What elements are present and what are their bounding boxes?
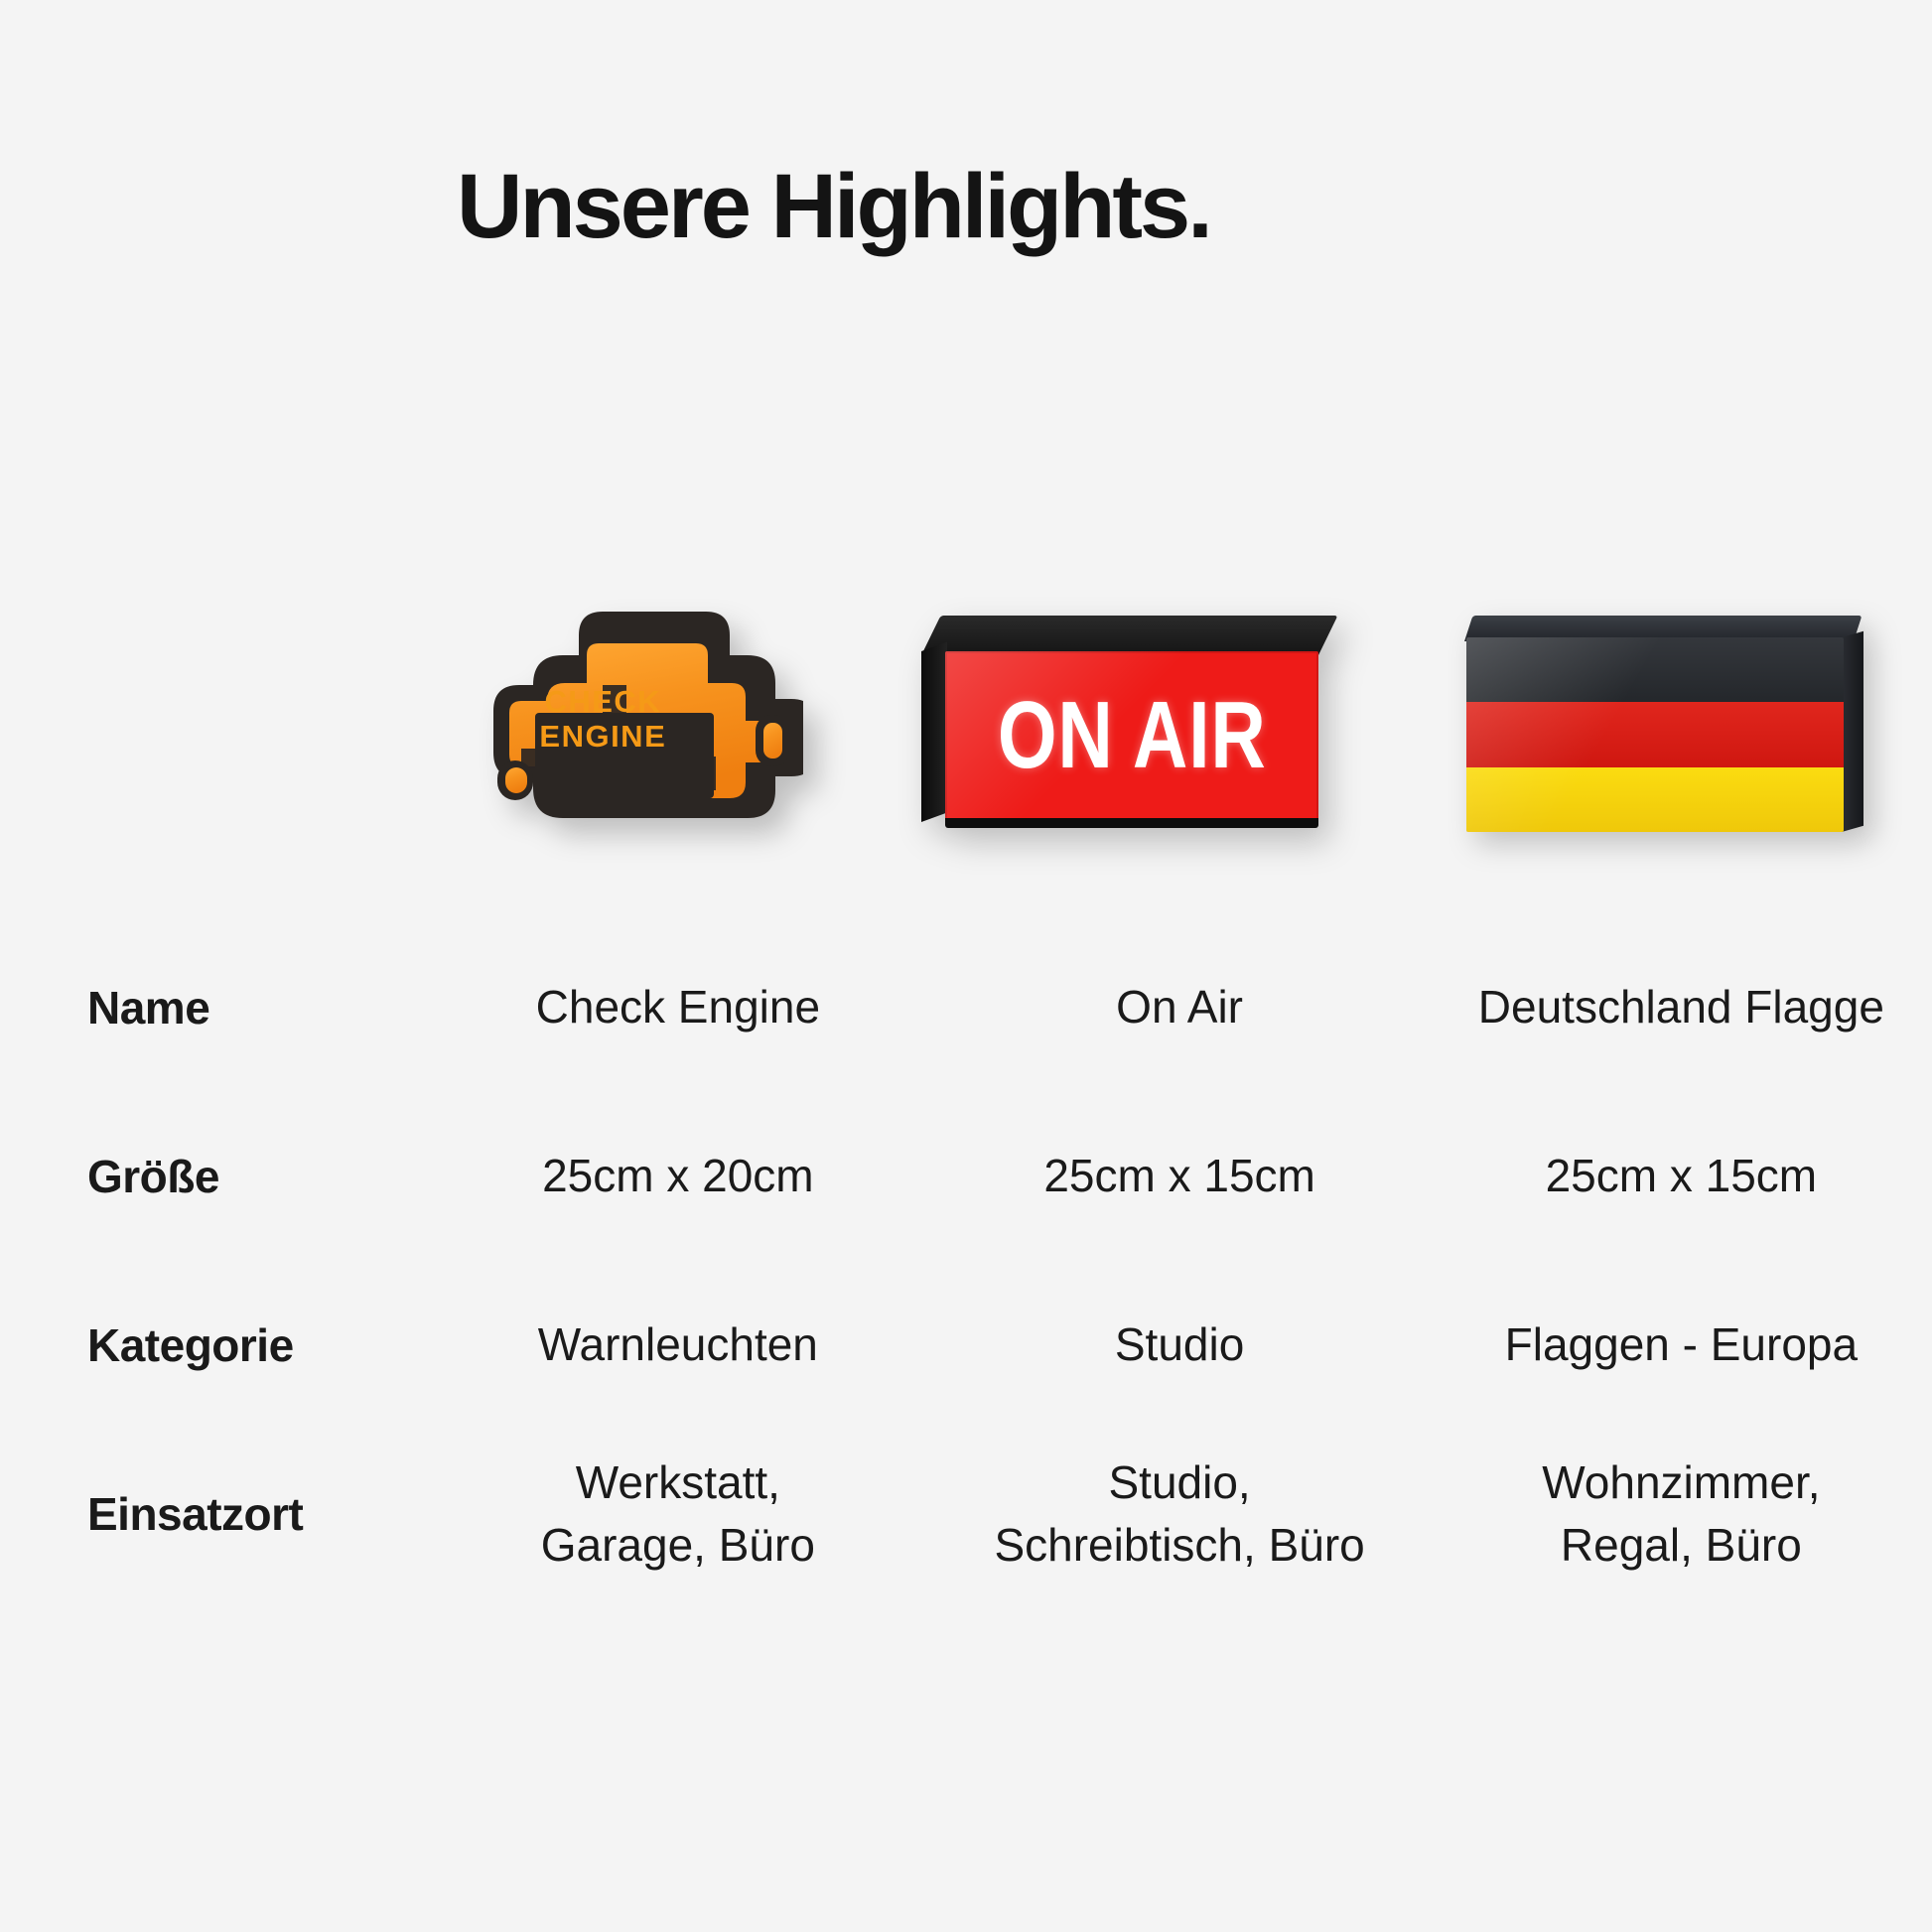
flag-box-face — [1466, 637, 1844, 832]
cell-name-check-engine: Check Engine — [427, 923, 928, 1092]
cell-einsatzort-check-engine: Werkstatt, Garage, Büro — [427, 1430, 928, 1598]
product-image-deutschland-flagge[interactable] — [1397, 536, 1932, 864]
cell-kategorie-deutschland-flagge: Flaggen - Europa — [1431, 1261, 1932, 1430]
flag-box-right-edge — [1842, 631, 1863, 832]
table-row: Einsatzort Werkstatt, Garage, Büro Studi… — [0, 1430, 1932, 1598]
on-air-box-top-edge — [921, 616, 1338, 655]
cell-line2: Schreibtisch, Büro — [928, 1514, 1430, 1577]
on-air-light-box: ON AIR — [921, 616, 1338, 864]
on-air-box-face: ON AIR — [945, 651, 1318, 820]
cell-einsatzort-deutschland-flagge: Wohnzimmer, Regal, Büro — [1431, 1430, 1932, 1598]
flag-band-black — [1466, 637, 1844, 702]
flag-band-gold — [1466, 767, 1844, 832]
cell-name-on-air: On Air — [928, 923, 1430, 1092]
table-row: Größe 25cm x 20cm 25cm x 15cm 25cm x 15c… — [0, 1092, 1932, 1261]
cell-groesse-check-engine: 25cm x 20cm — [427, 1092, 928, 1261]
cell-kategorie-on-air: Studio — [928, 1261, 1430, 1430]
highlights-page: Unsere Highlights. — [0, 0, 1932, 1932]
on-air-sign-text: ON AIR — [998, 681, 1267, 790]
on-air-box-left-edge — [921, 642, 947, 822]
cell-line2: Regal, Büro — [1431, 1514, 1932, 1577]
row-label-name: Name — [0, 923, 427, 1092]
page-title: Unsere Highlights. — [457, 159, 1210, 255]
table-row: Kategorie Warnleuchten Studio Flaggen - … — [0, 1261, 1932, 1430]
product-image-row: CHECK ENGINE ON AIR — [0, 536, 1932, 864]
cell-line1: Wohnzimmer, — [1431, 1451, 1932, 1514]
cell-groesse-on-air: 25cm x 15cm — [928, 1092, 1430, 1261]
cell-line1: Studio, — [928, 1451, 1430, 1514]
cell-groesse-deutschland-flagge: 25cm x 15cm — [1431, 1092, 1932, 1261]
product-image-on-air[interactable]: ON AIR — [863, 536, 1398, 864]
germany-flag-light-box — [1456, 616, 1873, 864]
table-row: Name Check Engine On Air Deutschland Fla… — [0, 923, 1932, 1092]
cell-name-deutschland-flagge: Deutschland Flagge — [1431, 923, 1932, 1092]
spec-comparison-table: Name Check Engine On Air Deutschland Fla… — [0, 923, 1932, 1598]
row-label-kategorie: Kategorie — [0, 1261, 427, 1430]
row-label-groesse: Größe — [0, 1092, 427, 1261]
check-engine-lamp-icon: CHECK ENGINE — [386, 566, 803, 864]
cell-line1: Werkstatt, — [427, 1451, 928, 1514]
on-air-box-bottom-edge — [945, 818, 1318, 828]
cell-line2: Garage, Büro — [427, 1514, 928, 1577]
flag-band-red — [1466, 702, 1844, 766]
check-engine-svg — [386, 566, 803, 864]
cell-einsatzort-on-air: Studio, Schreibtisch, Büro — [928, 1430, 1430, 1598]
product-image-check-engine[interactable]: CHECK ENGINE — [328, 536, 863, 864]
row-label-einsatzort: Einsatzort — [0, 1430, 427, 1598]
cell-kategorie-check-engine: Warnleuchten — [427, 1261, 928, 1430]
